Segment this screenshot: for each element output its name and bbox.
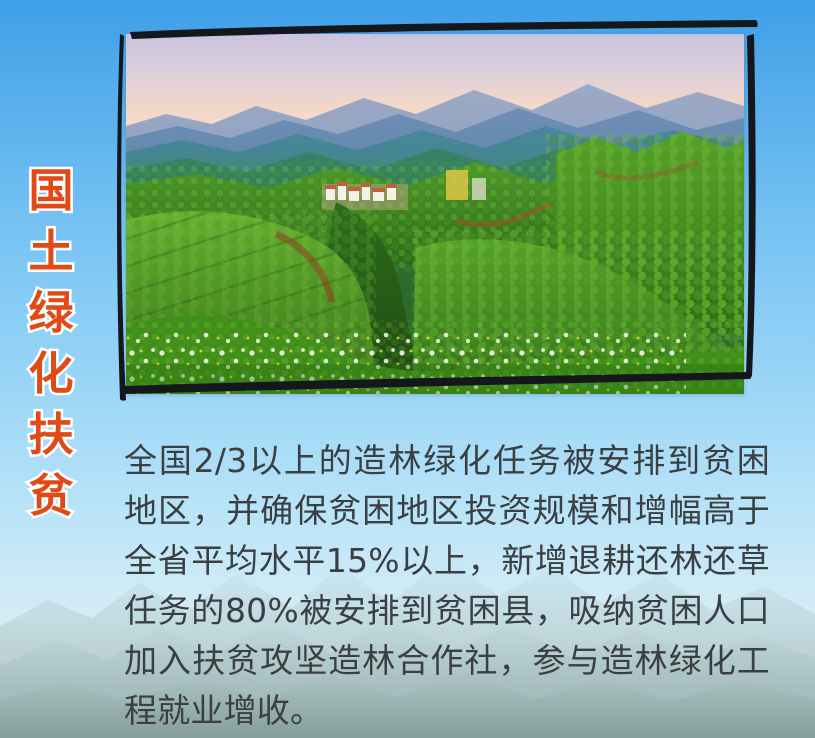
title-char-3: 绿: [28, 290, 73, 335]
vertical-title: 国 土 绿 化 扶 贫: [8, 168, 94, 518]
photo-frame: [118, 20, 758, 405]
landscape-photo: [126, 34, 744, 394]
body-paragraph: 全国2/3以上的造林绿化任务被安排到贫困地区，并确保贫困地区投资规模和增幅高于全…: [124, 436, 770, 736]
title-char-4: 化: [28, 351, 73, 396]
title-char-2: 土: [28, 229, 73, 274]
poster-canvas: 国 土 绿 化 扶 贫: [0, 0, 815, 738]
title-char-6: 贫: [28, 473, 73, 518]
title-char-1: 国: [28, 168, 73, 213]
title-char-5: 扶: [28, 412, 73, 457]
